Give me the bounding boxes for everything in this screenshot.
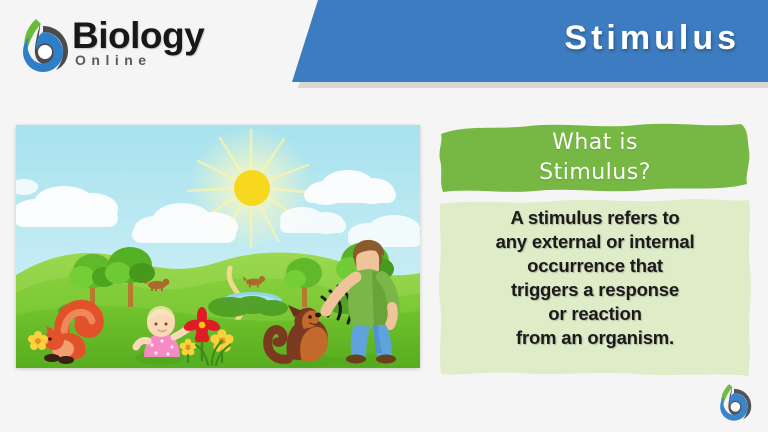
definition-box: A stimulus refers to any external or int… <box>437 198 753 378</box>
brand-logo[interactable]: Biology Online <box>14 10 264 80</box>
brand-subtitle: Online <box>75 52 152 68</box>
infographic-page: Stimulus Biology Online <box>0 0 768 432</box>
title-banner: Stimulus <box>292 0 768 90</box>
definition-text: A stimulus refers to any external or int… <box>443 206 747 350</box>
illustration-image <box>16 125 420 368</box>
biology-online-watermark-logo-icon <box>714 381 754 423</box>
page-header: Stimulus Biology Online <box>0 0 768 92</box>
definition-line-4: triggers a response <box>443 278 747 302</box>
definition-line-3: occurrence that <box>443 254 747 278</box>
brand-title: Biology <box>72 16 204 56</box>
definition-line-5: or reaction <box>443 302 747 326</box>
brand-wordmark: Biology Online <box>72 16 262 74</box>
definition-panel: What is Stimulus? A stimulus refers to a… <box>437 120 753 380</box>
definition-line-6: from an organism. <box>443 326 747 350</box>
definition-line-2: any external or internal <box>443 230 747 254</box>
page-title: Stimulus <box>564 14 740 62</box>
heading-brush-banner: What is Stimulus? <box>437 120 753 200</box>
heading-line-1: What is <box>437 128 753 158</box>
biology-online-logo-mark-icon <box>14 16 72 74</box>
park-scene-illustration <box>16 125 420 368</box>
definition-line-1: A stimulus refers to <box>443 206 747 230</box>
heading-line-2: Stimulus? <box>437 158 753 188</box>
heading-text: What is Stimulus? <box>437 128 753 188</box>
